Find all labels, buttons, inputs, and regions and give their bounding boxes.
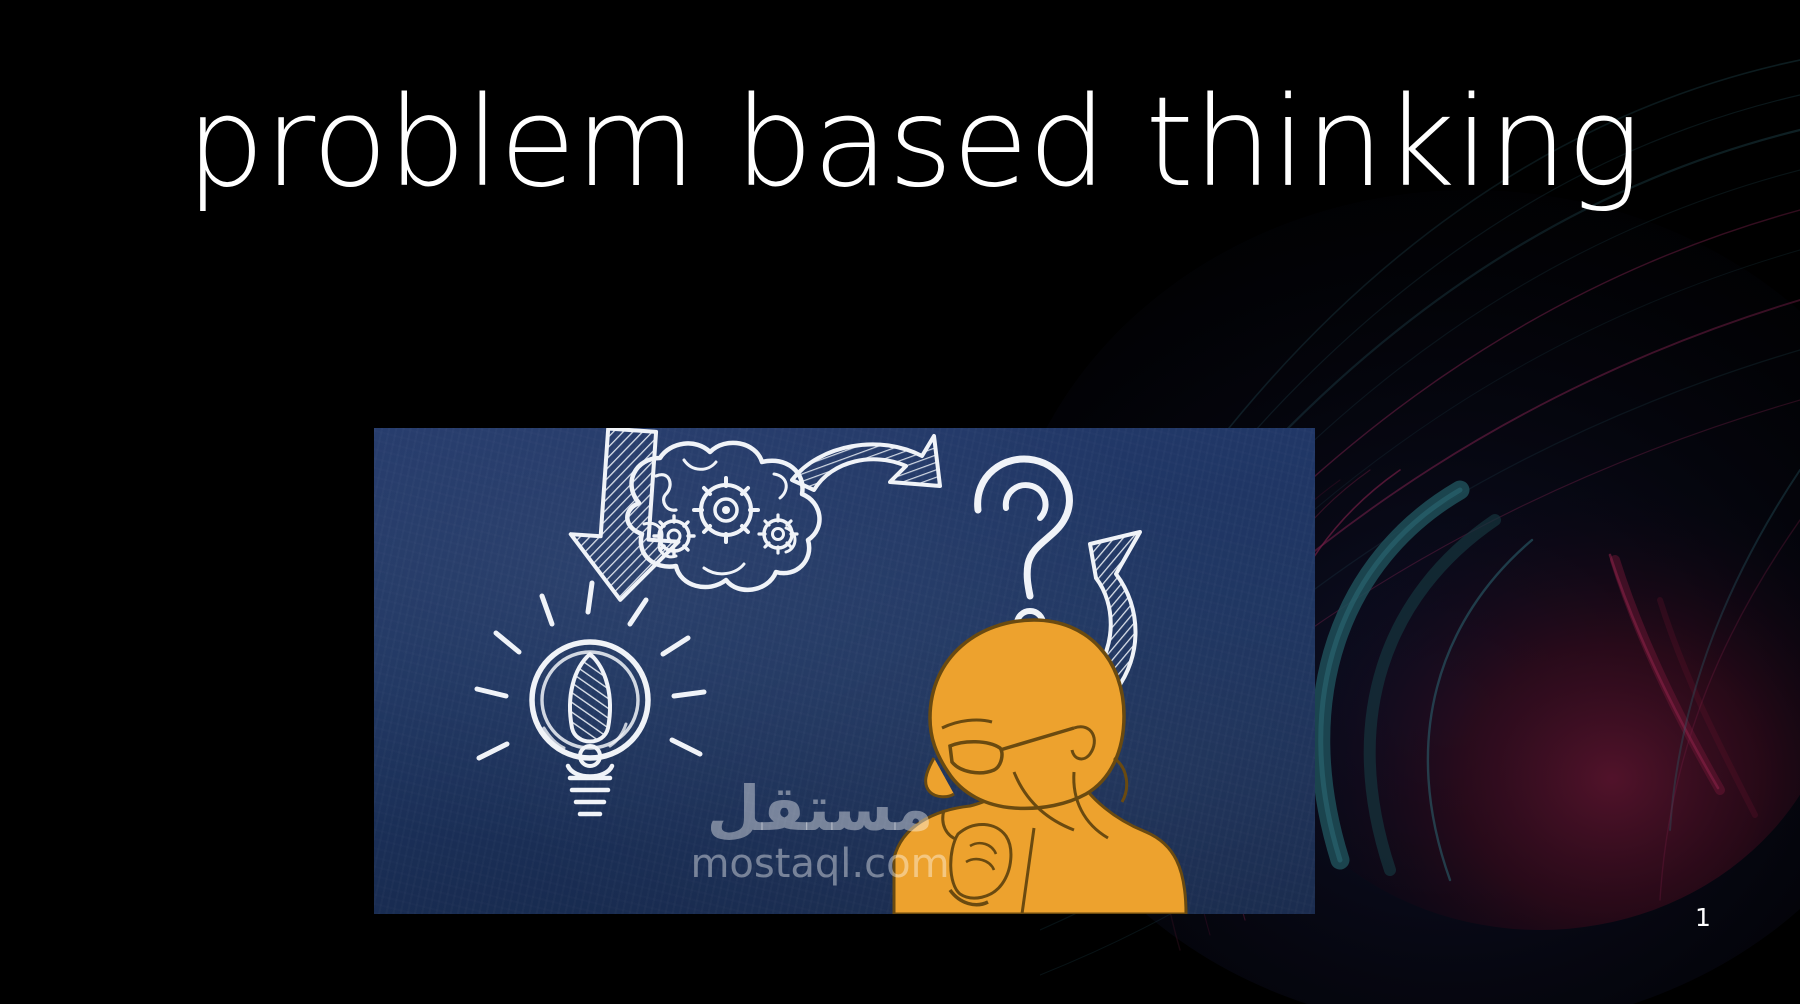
lightbulb-with-exclamation xyxy=(477,583,704,814)
slide-title: problem based thinking xyxy=(186,78,1486,208)
curved-arrow-top xyxy=(792,436,940,490)
problem-solving-chalkboard-illustration xyxy=(374,428,1315,914)
thinking-person-silhouette xyxy=(894,620,1186,914)
question-mark xyxy=(978,459,1070,637)
presentation-slide: problem based thinking xyxy=(0,0,1800,1004)
page-number: 1 xyxy=(1695,905,1711,930)
down-arrow xyxy=(566,428,686,604)
brain-with-gears xyxy=(627,443,819,590)
